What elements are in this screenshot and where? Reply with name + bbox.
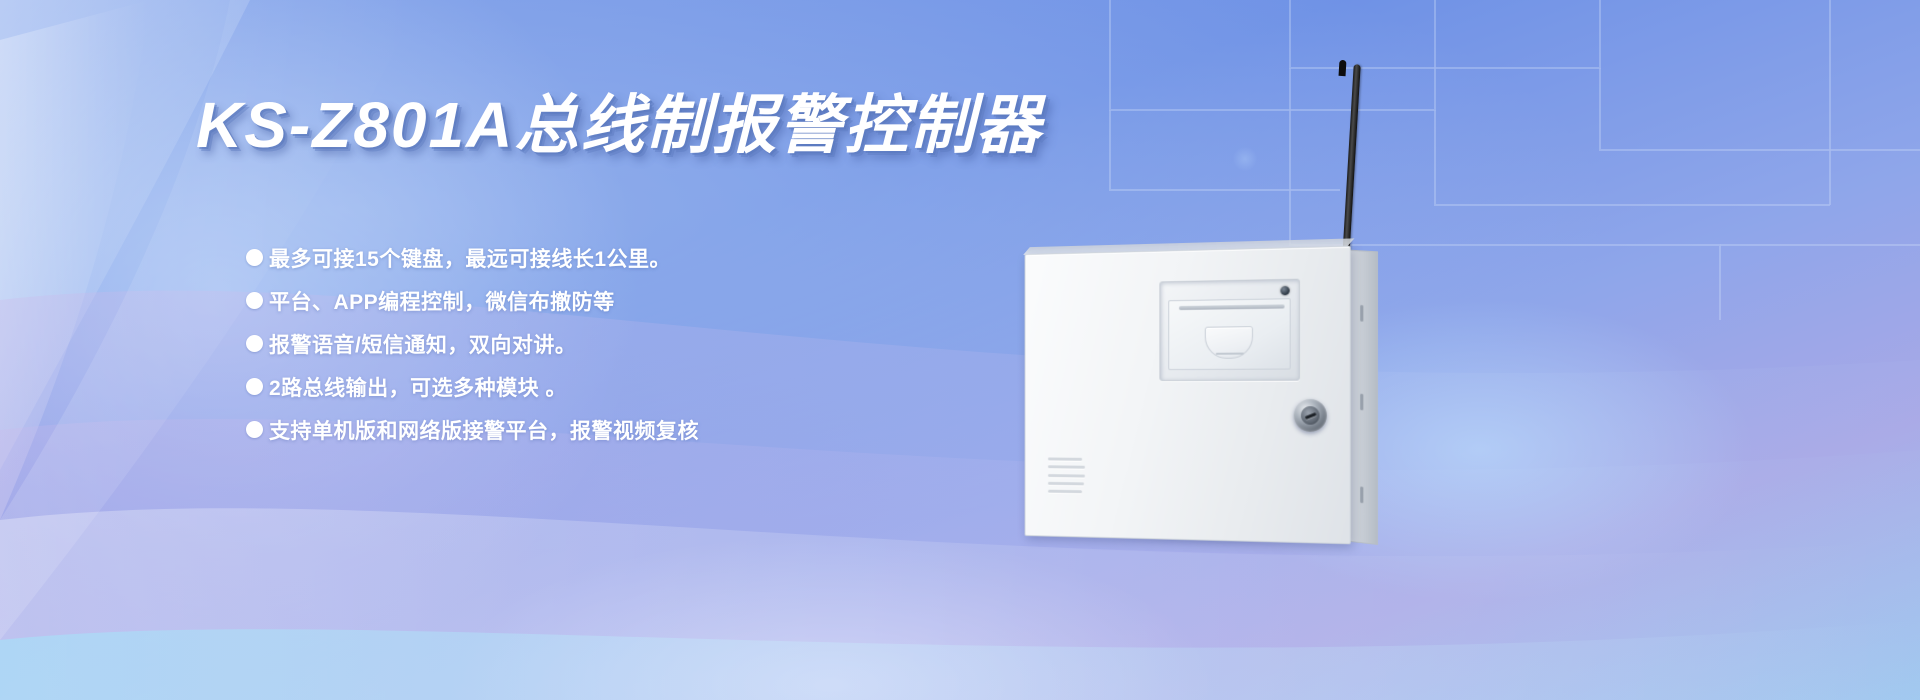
- page-title: KS-Z801A总线制报警控制器: [196, 74, 1042, 166]
- antenna-tip-icon: [1339, 60, 1347, 76]
- feature-text: 最多可接15个键盘，最远可接线长1公里。: [269, 243, 671, 273]
- lock-keyhole: [1304, 412, 1316, 419]
- vent-slot: [1048, 490, 1082, 494]
- enclosure-side-panel: [1350, 250, 1378, 545]
- feature-list: 最多可接15个键盘，最远可接线长1公里。 平台、APP编程控制，微信布撤防等 报…: [246, 236, 1066, 451]
- keypad-pull-tab: [1205, 326, 1253, 359]
- filled-circle-bullet-icon: [246, 292, 263, 309]
- status-led-icon: [1280, 286, 1289, 295]
- keypad-inner-panel: [1168, 298, 1290, 370]
- hinge-icon: [1360, 394, 1363, 411]
- hinge-icon: [1360, 486, 1363, 503]
- keypad-recess: [1159, 279, 1300, 381]
- filled-circle-bullet-icon: [246, 421, 263, 438]
- vent-slot: [1048, 457, 1082, 460]
- list-item: 支持单机版和网络版接警平台，报警视频复核: [246, 408, 1066, 451]
- card-slot-icon: [1179, 304, 1284, 310]
- list-item: 报警语音/短信通知，双向对讲。: [246, 322, 1066, 365]
- feature-text: 支持单机版和网络版接警平台，报警视频复核: [269, 415, 699, 445]
- feature-text: 报警语音/短信通知，双向对讲。: [269, 329, 576, 359]
- filled-circle-bullet-icon: [246, 249, 263, 266]
- vent-slot: [1048, 482, 1084, 486]
- alarm-panel-enclosure: [1025, 246, 1351, 545]
- list-item: 2路总线输出，可选多种模块 。: [246, 365, 1066, 408]
- lock-core: [1301, 406, 1320, 424]
- feature-text: 平台、APP编程控制，微信布撤防等: [269, 286, 615, 316]
- filled-circle-bullet-icon: [246, 378, 263, 395]
- feature-text: 2路总线输出，可选多种模块 。: [269, 372, 567, 402]
- vent-slot: [1048, 474, 1085, 477]
- filled-circle-bullet-icon: [246, 335, 263, 352]
- product-image: [1010, 60, 1570, 620]
- list-item: 平台、APP编程控制，微信布撤防等: [246, 279, 1066, 322]
- product-banner: KS-Z801A总线制报警控制器 最多可接15个键盘，最远可接线长1公里。 平台…: [0, 0, 1920, 700]
- lock-cylinder-icon: [1294, 399, 1327, 432]
- vent-slot: [1048, 466, 1085, 469]
- list-item: 最多可接15个键盘，最远可接线长1公里。: [246, 236, 1066, 279]
- enclosure-door: [1025, 246, 1351, 545]
- hinge-icon: [1360, 305, 1363, 322]
- ventilation-slots: [1048, 457, 1086, 493]
